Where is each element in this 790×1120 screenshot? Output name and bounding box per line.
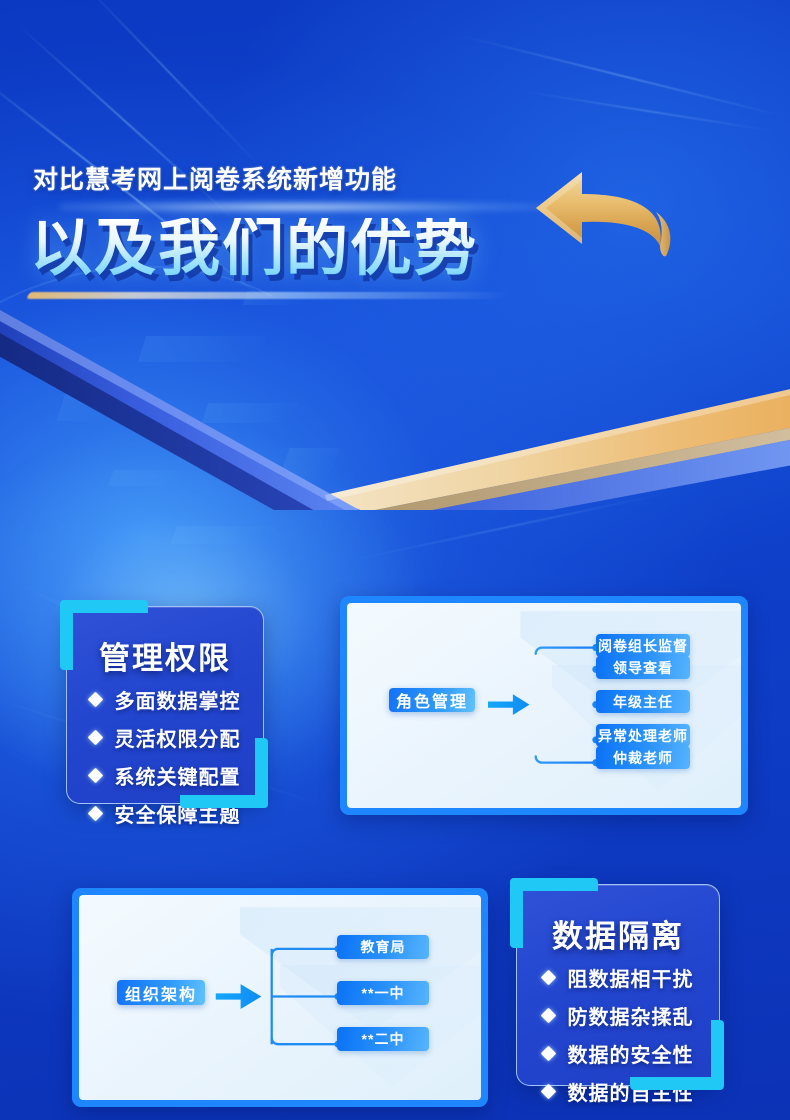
node-source-organization-structure[interactable]: 组织架构 [117, 980, 205, 1005]
corner-accent-top-left [510, 878, 598, 891]
list-item-label: 防数据杂揉乱 [568, 1001, 694, 1030]
panel-organization-structure: 组织架构 教育局 **一中 **二中 [72, 888, 488, 1107]
card-feature-list: 多面数据掌控 灵活权限分配 系统关键配置 安全保障主题 [67, 685, 263, 837]
title-underline [26, 292, 510, 299]
list-item-label: 阻数据相干扰 [568, 963, 694, 992]
diamond-bullet-icon [540, 970, 556, 986]
hero-subtitle: 对比慧考网上阅卷系统新增功能 [33, 160, 397, 196]
list-item-label: 灵活权限分配 [115, 723, 241, 752]
node-branch[interactable]: 阅卷组长监督 [596, 634, 690, 657]
node-source-role-management[interactable]: 角色管理 [389, 688, 475, 712]
list-item: 灵活权限分配 [67, 723, 263, 752]
card-feature-list: 阻数据相干扰 防数据杂揉乱 数据的安全性 数据的自主性 [517, 963, 719, 1115]
list-item: 阻数据相干扰 [517, 963, 719, 992]
diamond-bullet-icon [87, 730, 103, 746]
diamond-bullet-icon [87, 806, 103, 822]
list-item: 数据的安全性 [517, 1039, 719, 1068]
hero-section: 对比慧考网上阅卷系统新增功能 以及我们的优势 [0, 0, 790, 500]
diamond-bullet-icon [87, 692, 103, 708]
diamond-bullet-icon [540, 1008, 556, 1024]
list-item-label: 数据的安全性 [568, 1039, 694, 1068]
node-branch[interactable]: 教育局 [337, 935, 429, 959]
corner-accent-top-left [60, 600, 73, 670]
list-item-label: 多面数据掌控 [115, 685, 241, 714]
panel-role-management: 角色管理 阅卷组长监督 领导查看 年级主任 异常处理老师 仲裁老师 [340, 596, 748, 815]
corner-accent-bottom-right [630, 1077, 718, 1090]
hero-title: 以及我们的优势 [30, 218, 478, 280]
card-data-isolation: 数据隔离 阻数据相干扰 防数据杂揉乱 数据的安全性 数据的自主性 [516, 884, 720, 1086]
poster-root: 对比慧考网上阅卷系统新增功能 以及我们的优势 管理权限 [0, 0, 790, 1120]
node-branch[interactable]: 异常处理老师 [596, 724, 690, 747]
list-item: 多面数据掌控 [67, 685, 263, 714]
node-branch[interactable]: **一中 [337, 981, 429, 1005]
corner-accent-bottom-right [255, 738, 268, 808]
curved-left-arrow-icon [524, 150, 704, 280]
card-management-permissions: 管理权限 多面数据掌控 灵活权限分配 系统关键配置 安全保障主题 [66, 606, 264, 804]
ribbon-graphic [0, 280, 790, 510]
panel-inner: 组织架构 教育局 **一中 **二中 [79, 895, 481, 1100]
list-item: 系统关键配置 [67, 761, 263, 790]
list-item: 防数据杂揉乱 [517, 1001, 719, 1030]
card-title: 数据隔离 [517, 911, 719, 956]
diamond-bullet-icon [540, 1046, 556, 1062]
diamond-bullet-icon [540, 1084, 556, 1100]
corner-accent-top-left [510, 878, 523, 948]
node-branch[interactable]: 年级主任 [596, 690, 690, 713]
card-title: 管理权限 [67, 633, 263, 678]
diamond-bullet-icon [87, 768, 103, 784]
corner-accent-bottom-right [711, 1020, 724, 1090]
node-branch[interactable]: 领导查看 [596, 656, 690, 679]
title-glow-streak [60, 200, 580, 214]
node-branch[interactable]: **二中 [337, 1027, 429, 1051]
panel-inner: 角色管理 阅卷组长监督 领导查看 年级主任 异常处理老师 仲裁老师 [347, 603, 741, 808]
corner-accent-top-left [60, 600, 148, 613]
node-branch[interactable]: 仲裁老师 [596, 746, 690, 769]
list-item-label: 系统关键配置 [115, 761, 241, 790]
